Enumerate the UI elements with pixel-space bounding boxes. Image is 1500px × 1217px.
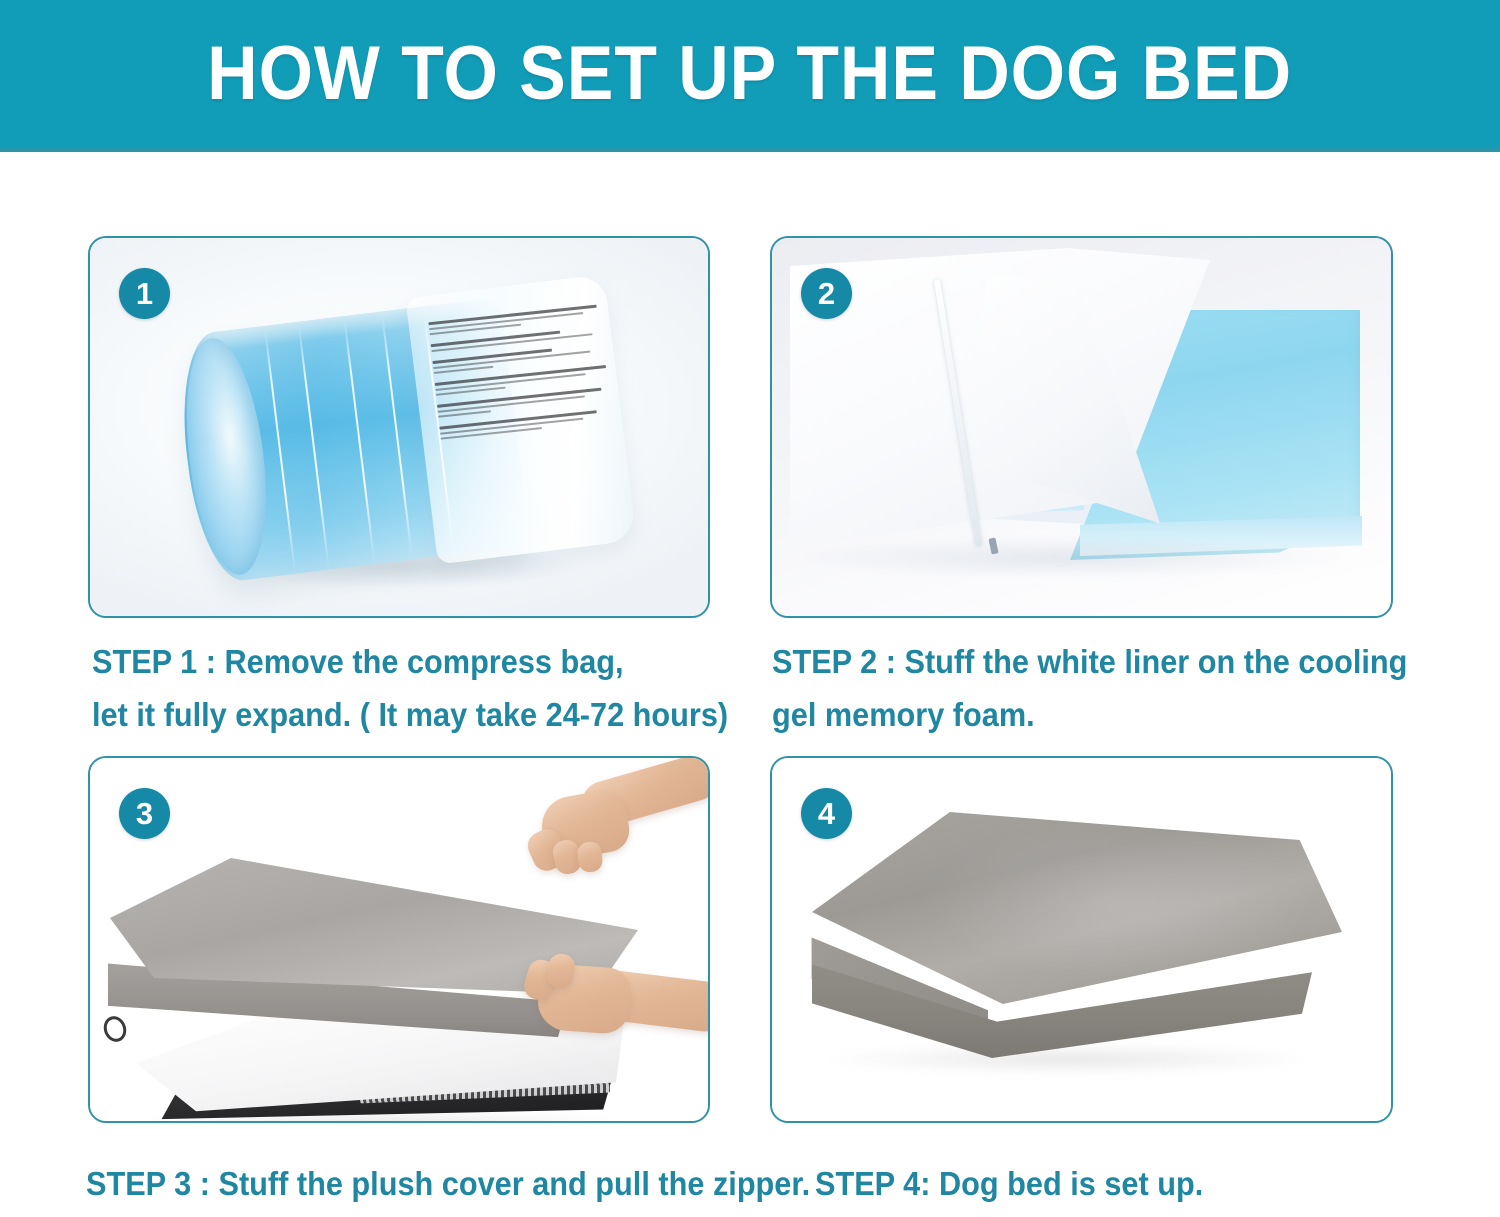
step-1-caption-line-1: STEP 1 : Remove the compress bag, [92, 635, 728, 688]
step-1-caption: STEP 1 : Remove the compress bag, let it… [92, 635, 728, 741]
step-3-caption-line-1: STEP 3 : Stuff the plush cover and pull … [86, 1157, 810, 1210]
step-badge-1: 1 [119, 268, 170, 319]
step-3-photo-panel: 3 [88, 756, 710, 1123]
step-4-photo-panel: 4 [770, 756, 1393, 1123]
drop-shadow [802, 538, 1342, 578]
drop-shadow [832, 1044, 1302, 1074]
page-title: HOW TO SET UP THE DOG BED [208, 35, 1293, 113]
step-2-caption-line-2: gel memory foam. [772, 688, 1407, 741]
step-badge-3: 3 [119, 788, 170, 839]
step-4-caption: STEP 4: Dog bed is set up. [815, 1157, 1203, 1210]
step-badge-4: 4 [801, 788, 852, 839]
hand-lower [520, 958, 708, 1078]
step-3-photo [90, 758, 708, 1121]
step-1-photo [90, 238, 708, 616]
header-banner: HOW TO SET UP THE DOG BED [0, 0, 1500, 152]
step-3-caption: STEP 3 : Stuff the plush cover and pull … [86, 1157, 810, 1210]
warning-label [428, 304, 626, 537]
hand-upper [520, 768, 708, 898]
step-1-photo-panel: 1 [88, 236, 710, 618]
step-2-caption-line-1: STEP 2 : Stuff the white liner on the co… [772, 635, 1407, 688]
compressed-foam-roll [172, 285, 629, 586]
step-1-caption-line-2: let it fully expand. ( It may take 24-72… [92, 688, 728, 741]
step-2-photo [772, 238, 1391, 616]
step-2-photo-panel: 2 [770, 236, 1393, 618]
step-4-caption-line-1: STEP 4: Dog bed is set up. [815, 1157, 1203, 1210]
step-4-photo [772, 758, 1391, 1121]
step-badge-2: 2 [801, 268, 852, 319]
foam-and-liner [790, 248, 1390, 578]
step-2-caption: STEP 2 : Stuff the white liner on the co… [772, 635, 1407, 741]
